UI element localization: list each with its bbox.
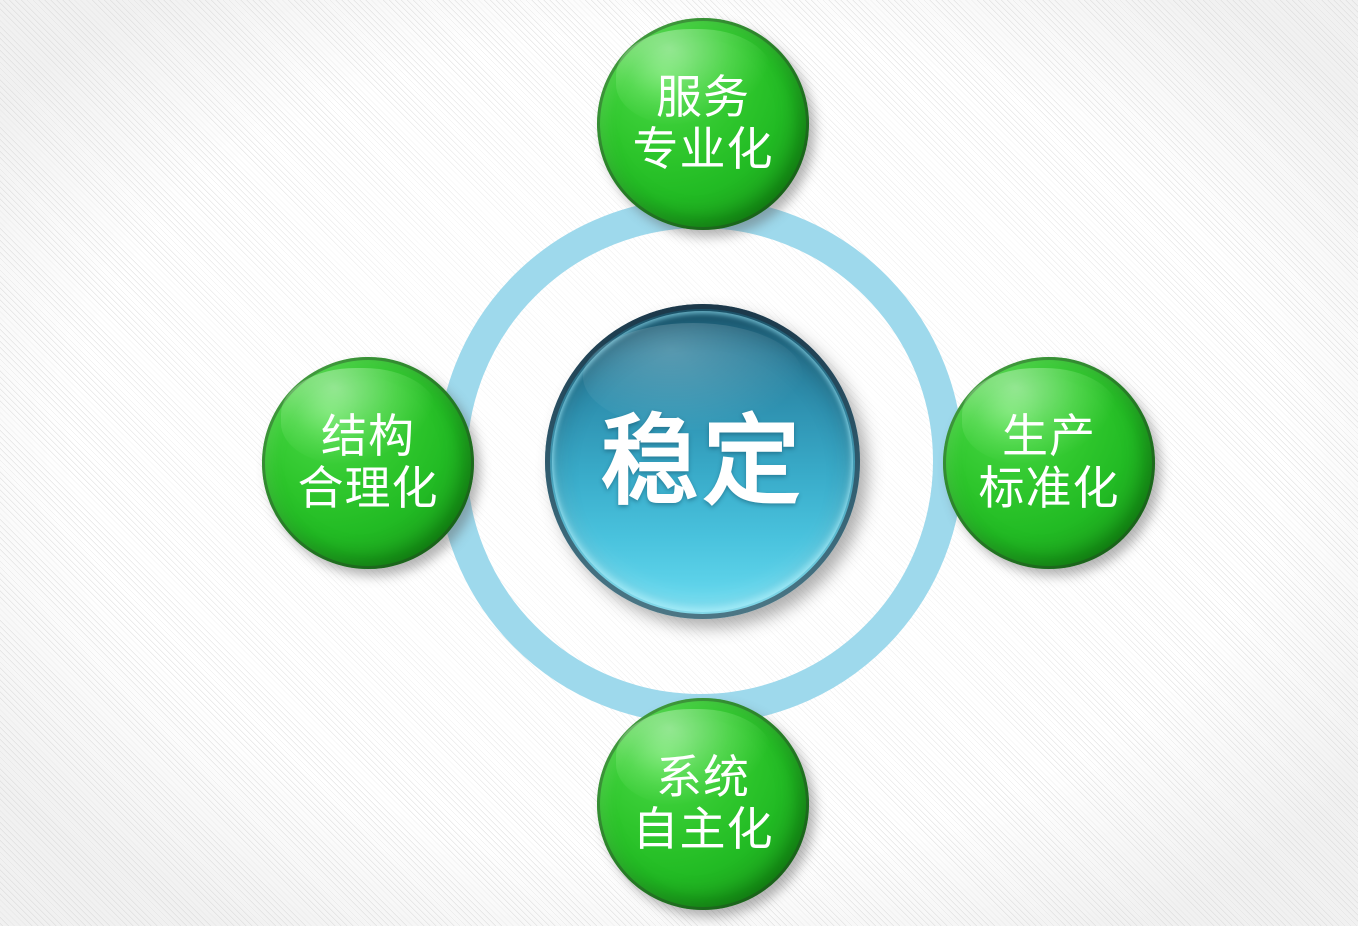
- center-label: 稳定: [600, 413, 804, 511]
- node-label-line-1: 服务: [656, 72, 750, 124]
- node-label-line-2: 自主化: [633, 804, 774, 856]
- node-service-professionalization[interactable]: 服务 专业化: [597, 18, 809, 230]
- node-label-line-1: 系统: [656, 752, 750, 804]
- node-label-line-2: 标准化: [979, 463, 1120, 515]
- node-production-standardization[interactable]: 生产 标准化: [943, 357, 1155, 569]
- node-structure-rationalization[interactable]: 结构 合理化: [262, 357, 474, 569]
- diagram-canvas: 服务 专业化 生产 标准化 系统 自主化 结构 合理化 稳定: [0, 0, 1358, 926]
- node-system-autonomy[interactable]: 系统 自主化: [597, 698, 809, 910]
- node-label-line-1: 结构: [321, 411, 415, 463]
- node-center-stability[interactable]: 稳定: [545, 304, 860, 619]
- node-label-line-1: 生产: [1002, 411, 1096, 463]
- node-label-line-2: 合理化: [298, 463, 439, 515]
- node-label-line-2: 专业化: [633, 124, 774, 176]
